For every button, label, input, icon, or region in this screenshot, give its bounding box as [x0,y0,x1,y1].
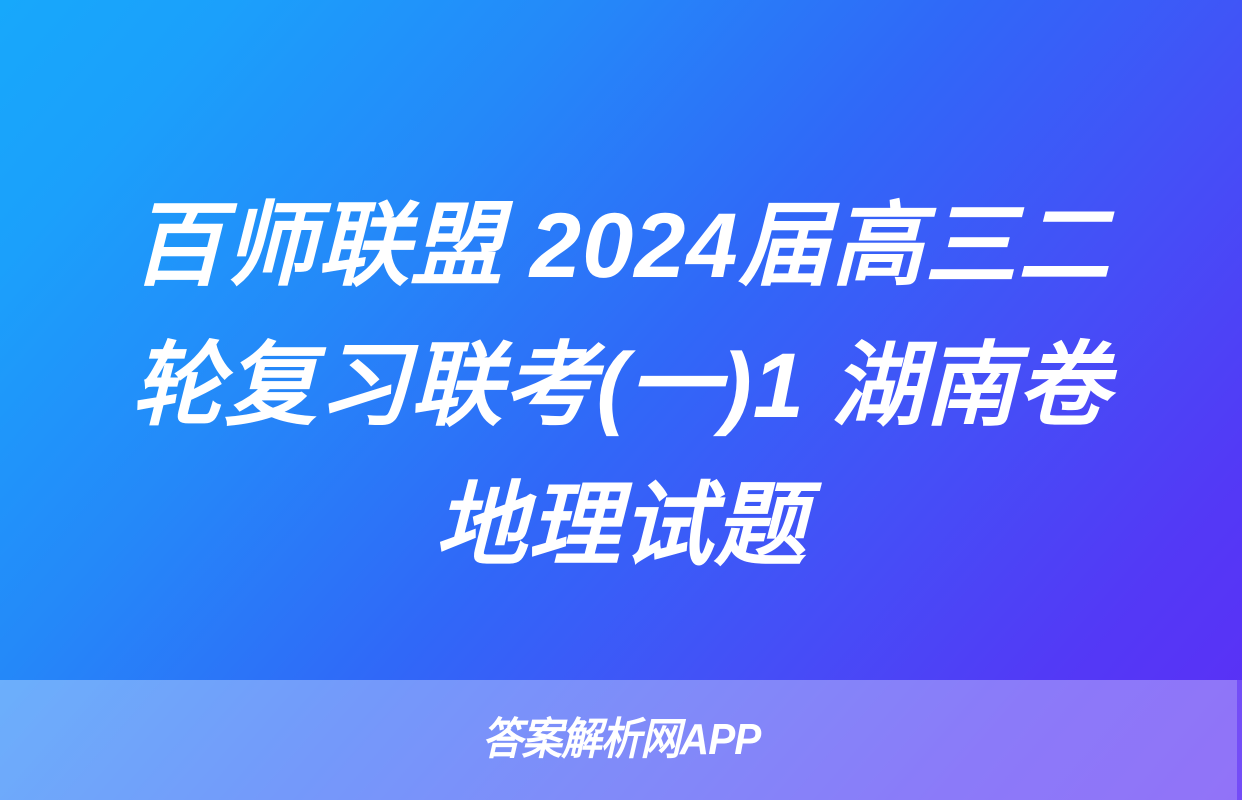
title-line-2: 轮复习联考(一)1 湖南卷 [36,316,1206,456]
page-title: 百师联盟 2024届高三二 轮复习联考(一)1 湖南卷 地理试题 [0,176,1242,596]
title-line-3: 地理试题 [36,456,1206,596]
footer-watermark-band: 答案解析网APP [0,680,1242,800]
watermark-label: 答案解析网APP [482,718,760,762]
footer-right-edge-sliver [1237,680,1242,800]
poster-canvas: 百师联盟 2024届高三二 轮复习联考(一)1 湖南卷 地理试题 答案解析网AP… [0,0,1242,800]
title-line-1: 百师联盟 2024届高三二 [36,176,1206,316]
